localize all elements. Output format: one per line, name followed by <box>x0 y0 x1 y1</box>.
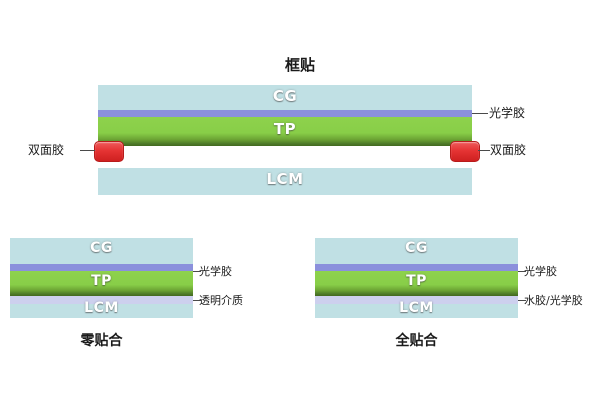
double-sided-tape-right-block <box>450 141 480 162</box>
callout-optical-adhesive: 光学胶 <box>199 263 232 279</box>
frame-lamination-stack: CG TP LCM <box>98 85 472 195</box>
layer-air-gap <box>98 146 472 168</box>
callout-water-gel-or-optical-adhesive: 水胶/光学胶 <box>524 292 583 308</box>
leader-line-optical-adhesive <box>472 113 488 114</box>
double-sided-tape-left-block <box>94 141 124 162</box>
layer-touch-panel <box>315 271 518 296</box>
callout-double-sided-tape-left: 双面胶 <box>28 141 64 158</box>
full-lamination-stack: CG TP LCM <box>315 238 518 318</box>
layer-touch-panel <box>98 117 472 146</box>
leader-line-tape-left <box>80 150 95 151</box>
top-diagram-title: 框贴 <box>0 54 600 75</box>
zero-lamination-stack: CG TP LCM <box>10 238 193 318</box>
layer-cover-glass <box>10 238 193 264</box>
layer-lcd-module <box>98 168 472 195</box>
leader-line-tape-right <box>478 150 490 151</box>
callout-transparent-medium: 透明介质 <box>199 292 243 308</box>
callout-double-sided-tape-right: 双面胶 <box>490 141 526 158</box>
layer-cover-glass <box>315 238 518 264</box>
zero-lamination-caption: 零贴合 <box>10 330 193 350</box>
callout-optical-adhesive: 光学胶 <box>524 263 557 279</box>
layer-touch-panel <box>10 271 193 296</box>
layer-cover-glass <box>98 85 472 110</box>
layer-lcd-module <box>315 304 518 318</box>
layer-optical-adhesive <box>10 264 193 271</box>
layer-optical-adhesive <box>315 264 518 271</box>
layer-water-gel-adhesive <box>315 296 518 304</box>
layer-optical-adhesive <box>98 110 472 117</box>
full-lamination-caption: 全贴合 <box>315 330 518 350</box>
diagram-canvas: 框贴 CG TP LCM 光学胶 双面胶 双面胶 CG TP LCM 光学胶 透… <box>0 0 600 400</box>
layer-lcd-module <box>10 304 193 318</box>
layer-transparent-medium <box>10 296 193 304</box>
callout-optical-adhesive: 光学胶 <box>489 104 525 121</box>
